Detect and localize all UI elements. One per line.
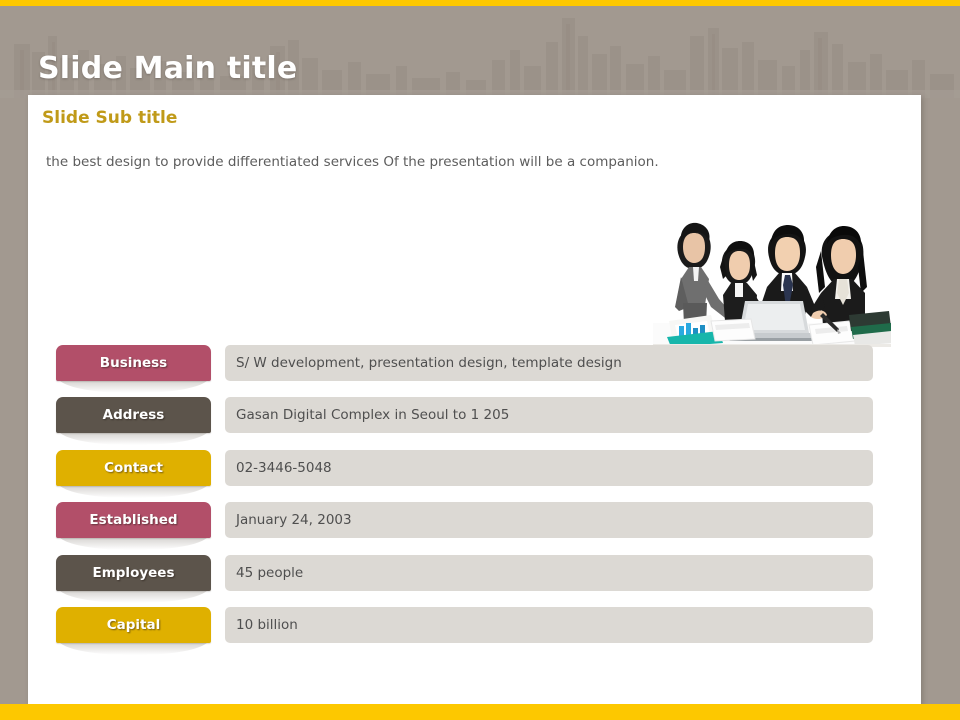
row-label: Capital [56, 607, 211, 643]
row-label: Established [56, 502, 211, 538]
table-row: Contact 02-3446-5048 [28, 450, 921, 502]
label-ribbon[interactable]: Contact [56, 450, 211, 494]
row-value[interactable]: January 24, 2003 [225, 502, 873, 538]
label-ribbon[interactable]: Established [56, 502, 211, 546]
table-row: Employees 45 people [28, 555, 921, 607]
label-ribbon[interactable]: Capital [56, 607, 211, 651]
table-row: Capital 10 billion [28, 607, 921, 659]
label-ribbon[interactable]: Business [56, 345, 211, 389]
row-label: Business [56, 345, 211, 381]
table-row: Business S/ W development, presentation … [28, 345, 921, 397]
row-label: Contact [56, 450, 211, 486]
row-label: Employees [56, 555, 211, 591]
label-ribbon[interactable]: Address [56, 397, 211, 441]
row-value[interactable]: 45 people [225, 555, 873, 591]
row-value[interactable]: S/ W development, presentation design, t… [225, 345, 873, 381]
slide-lead-text: the best design to provide differentiate… [46, 154, 659, 170]
bottom-accent-bar [0, 704, 960, 720]
table-row: Address Gasan Digital Complex in Seoul t… [28, 397, 921, 449]
label-ribbon[interactable]: Employees [56, 555, 211, 599]
content-panel: Slide Sub title the best design to provi… [28, 95, 921, 705]
row-value[interactable]: Gasan Digital Complex in Seoul to 1 205 [225, 397, 873, 433]
presentation-slide: Slide Main title Slide Sub title the bes… [0, 0, 960, 720]
slide-header: Slide Main title [0, 6, 960, 98]
row-label: Address [56, 397, 211, 433]
business-team-photo [653, 195, 891, 347]
row-value[interactable]: 10 billion [225, 607, 873, 643]
page-title: Slide Main title [38, 51, 297, 86]
company-info-table: Business S/ W development, presentation … [28, 345, 921, 659]
slide-subtitle: Slide Sub title [42, 108, 177, 128]
table-row: Established January 24, 2003 [28, 502, 921, 554]
row-value[interactable]: 02-3446-5048 [225, 450, 873, 486]
